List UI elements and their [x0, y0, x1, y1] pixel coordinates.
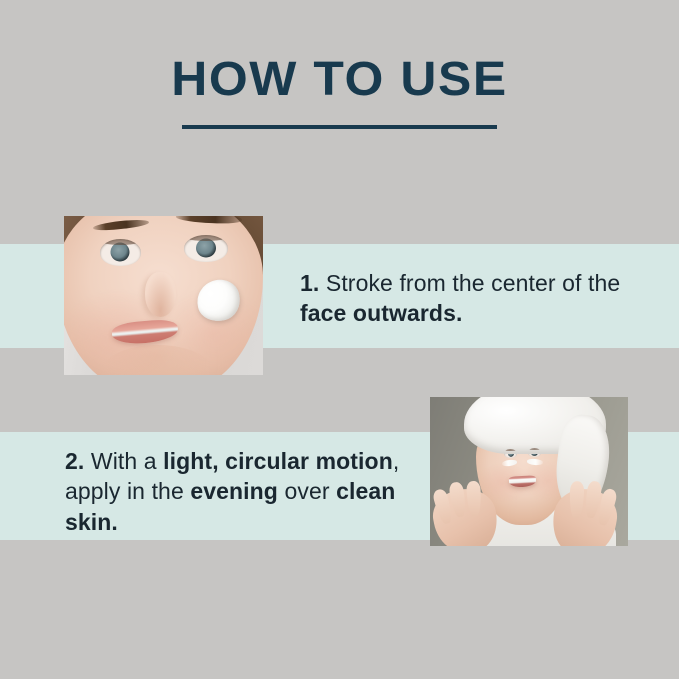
step-1-line-2-emphasis: face outwards.	[300, 300, 462, 326]
photo-1-chin-shading	[102, 345, 214, 375]
photo-1-face	[64, 216, 263, 375]
step-1-line-1: Stroke from the center of	[319, 270, 581, 296]
step-2-line-2-emphasis-a: motion	[316, 448, 393, 474]
page-title-container: HOW TO USE	[0, 56, 679, 104]
photo-2-cream-streak-left	[502, 459, 518, 466]
title-underline-divider	[182, 125, 497, 129]
step-2-line-1-emphasis: light, circular	[163, 448, 309, 474]
photo-1-lips	[111, 318, 179, 346]
step-1-line-2-prefix: the	[588, 270, 620, 296]
photo-1-nose	[145, 272, 176, 317]
how-to-use-infographic: HOW TO USE 1. Stroke from the center of …	[0, 0, 679, 679]
step-2-line-3-prefix: over	[284, 478, 336, 504]
step-1-text: 1. Stroke from the center of the face ou…	[300, 268, 644, 329]
photo-2-smile	[509, 475, 536, 487]
step-2-line-1-prefix: With a	[84, 448, 163, 474]
photo-1-eye-right	[184, 235, 227, 261]
step-2-number: 2.	[65, 448, 84, 474]
step-2-text: 2. With a light, circular motion, apply …	[65, 446, 437, 537]
step-2-line-2-emphasis-b: evening	[190, 478, 278, 504]
step-2-photo	[430, 397, 628, 546]
photo-1-cream-dab	[192, 275, 244, 325]
step-1-photo	[64, 216, 263, 375]
photo-2-finger	[569, 481, 584, 518]
photo-2-cream-streak-right	[527, 458, 544, 465]
photo-1-eye-left	[100, 239, 141, 265]
photo-2-finger	[466, 481, 482, 517]
photo-1-eyebrow-right	[176, 216, 243, 225]
photo-1-eyebrow-left	[93, 218, 149, 232]
page-title: HOW TO USE	[0, 56, 679, 104]
step-1-number: 1.	[300, 270, 319, 296]
